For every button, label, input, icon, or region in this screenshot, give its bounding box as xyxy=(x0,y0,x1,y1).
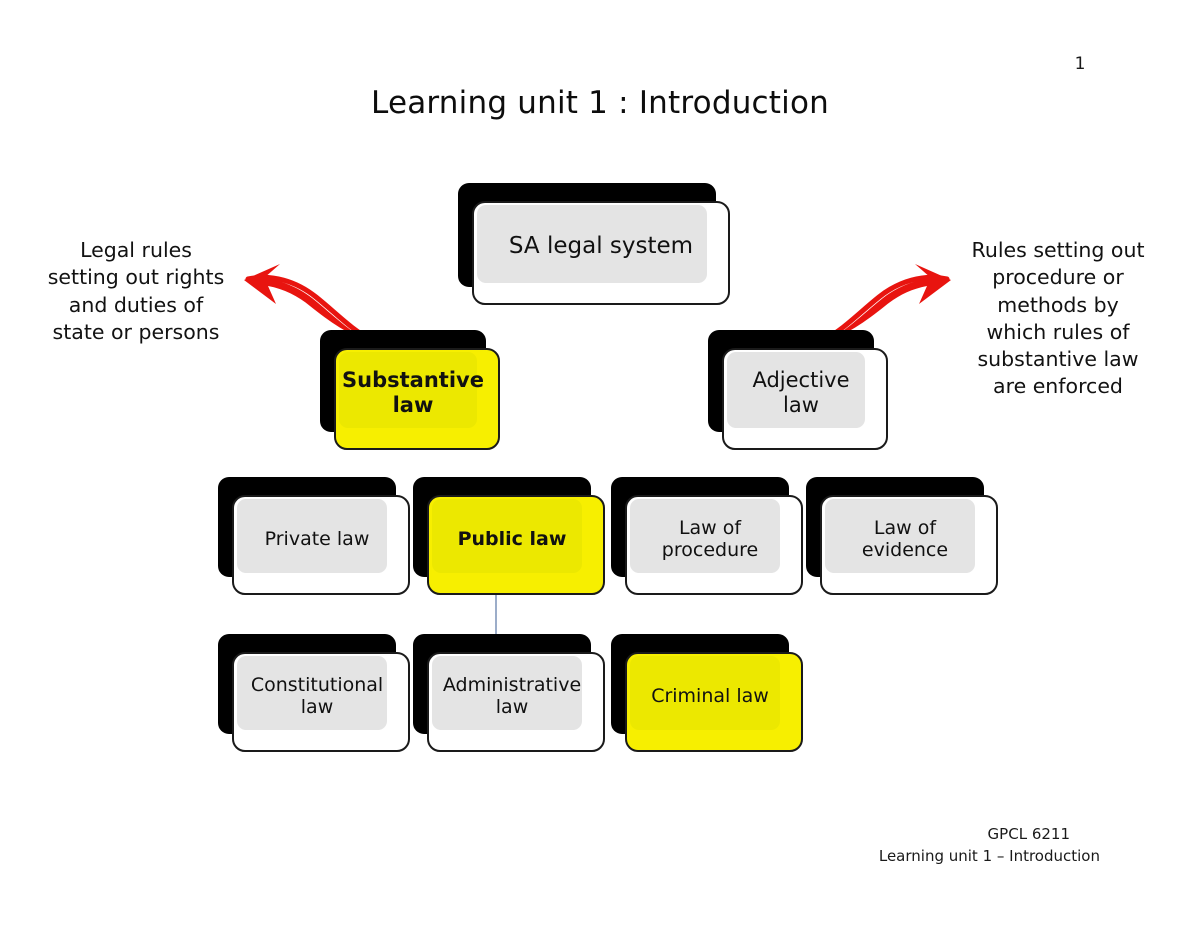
node-constitutional-law[interactable]: Constitutional law xyxy=(218,634,410,752)
node-label: Substantive law xyxy=(334,348,492,438)
page-number: 1 xyxy=(1060,54,1100,74)
node-substantive-law[interactable]: Substantive law xyxy=(320,330,500,450)
page-title: Learning unit 1 : Introduction xyxy=(0,85,1200,121)
node-administrative-law[interactable]: Administrative law xyxy=(413,634,605,752)
footer-unit-title: Learning unit 1 – Introduction xyxy=(760,846,1100,868)
node-label: Private law xyxy=(232,495,402,583)
node-label: Administrative law xyxy=(427,652,597,740)
node-adjective-law[interactable]: Adjective law xyxy=(708,330,888,450)
node-sa-legal-system[interactable]: SA legal system xyxy=(458,183,730,305)
node-law-of-procedure[interactable]: Law of procedure xyxy=(611,477,803,595)
node-label: Criminal law xyxy=(625,652,795,740)
left-annotation-text: Legal rules setting out rights and dutie… xyxy=(20,237,252,346)
right-annotation-text: Rules setting out procedure or methods b… xyxy=(940,237,1176,413)
node-label: Law of procedure xyxy=(625,495,795,583)
footer-course-code: GPCL 6211 xyxy=(760,824,1100,846)
node-label: SA legal system xyxy=(472,201,730,293)
node-private-law[interactable]: Private law xyxy=(218,477,410,595)
node-label: Adjective law xyxy=(722,348,880,438)
node-law-of-evidence[interactable]: Law of evidence xyxy=(806,477,998,595)
node-public-law[interactable]: Public law xyxy=(413,477,605,595)
node-label: Law of evidence xyxy=(820,495,990,583)
node-label: Constitutional law xyxy=(232,652,402,740)
node-criminal-law[interactable]: Criminal law xyxy=(611,634,803,752)
slide-footer: GPCL 6211 Learning unit 1 – Introduction xyxy=(760,824,1100,868)
slide-canvas: 1 Learning unit 1 : Introduction Legal r… xyxy=(0,0,1200,927)
node-label: Public law xyxy=(427,495,597,583)
